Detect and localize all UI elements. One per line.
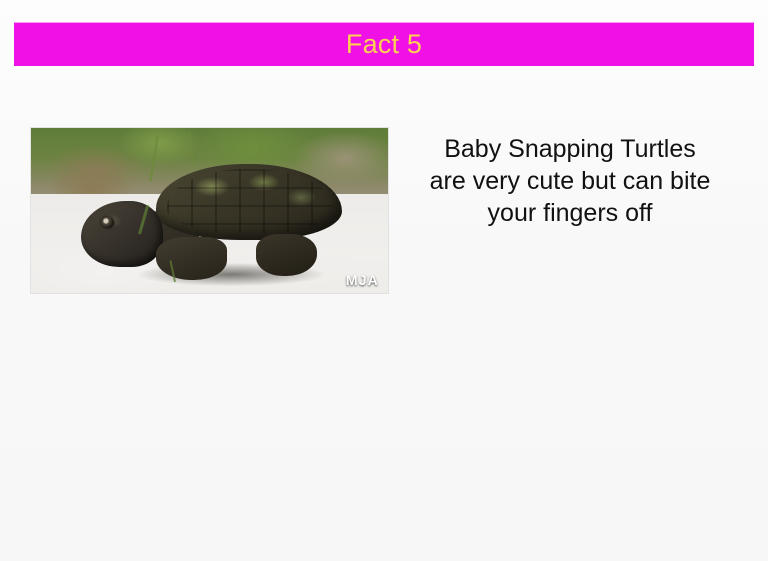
- body-text-line-1: Baby Snapping Turtles: [398, 133, 742, 165]
- turtle-front-leg: [156, 237, 227, 280]
- title-banner: Fact 5: [14, 22, 754, 66]
- turtle-eye: [101, 217, 114, 228]
- body-text-block: Baby Snapping Turtles are very cute but …: [398, 133, 742, 229]
- turtle-photo: MJA: [31, 128, 388, 293]
- turtle-rear-leg: [256, 234, 317, 277]
- body-text-line-2: are very cute but can bite: [398, 165, 742, 197]
- body-text-line-3: your fingers off: [398, 197, 742, 229]
- slide-canvas: Fact 5 MJA Baby Snapping Turtles are ver…: [0, 0, 768, 561]
- page-title: Fact 5: [346, 31, 422, 58]
- turtle-shell-scutes: [167, 169, 334, 233]
- photo-watermark: MJA: [346, 272, 379, 288]
- photo-artwork: [31, 128, 388, 293]
- turtle-head: [81, 201, 163, 267]
